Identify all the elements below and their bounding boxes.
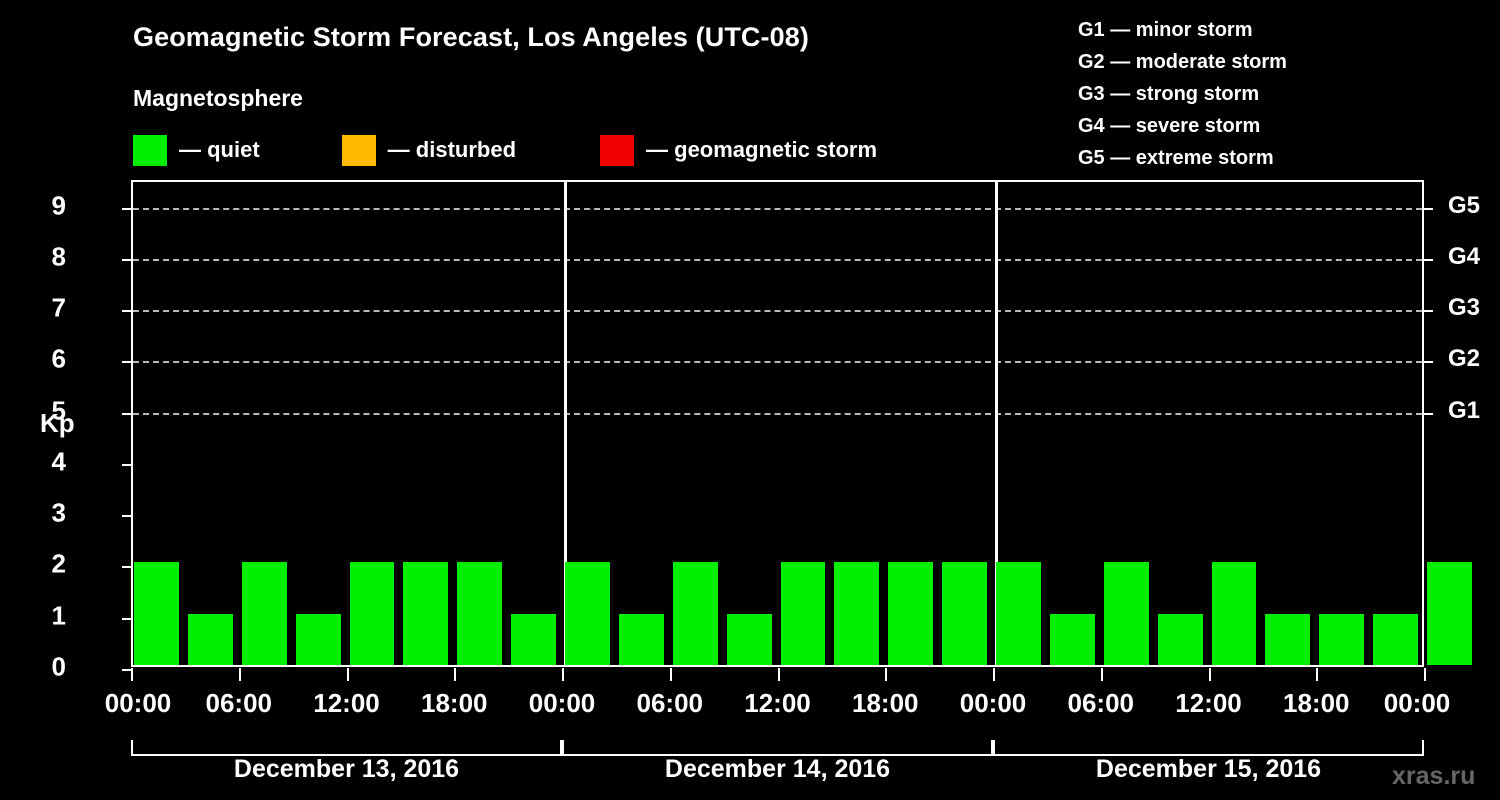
kp-bar [242,562,287,665]
gridline [133,361,1422,363]
right-axis-label: G5 [1448,192,1480,220]
day-range-bracket [131,740,562,756]
legend-item-label: — disturbed [388,137,516,163]
right-axis-label: G1 [1448,397,1480,425]
watermark: xras.ru [1392,762,1475,791]
y-axis-label: 1 [26,600,66,631]
chart-plot-area [131,180,1424,667]
x-axis-tick [131,668,133,681]
y-axis-label: 5 [26,395,66,426]
kp-bar [1050,614,1095,665]
x-axis-tick [562,668,564,681]
x-axis-label: 12:00 [313,688,380,719]
page-title: Geomagnetic Storm Forecast, Los Angeles … [133,22,809,53]
legend-item-label: — quiet [179,137,260,163]
x-axis-label: 06:00 [637,688,704,719]
y-axis-tick [122,361,133,363]
x-axis-tick [670,668,672,681]
x-axis-label: 18:00 [1283,688,1350,719]
kp-bar [673,562,718,665]
y-axis-tick [122,259,133,261]
y-axis-label: 7 [26,293,66,324]
x-axis-tick [778,668,780,681]
kp-bar [888,562,933,665]
x-axis-label: 06:00 [206,688,273,719]
x-axis-label: 00:00 [1384,688,1451,719]
x-axis-label: 18:00 [852,688,919,719]
legend-item-label: — geomagnetic storm [646,137,877,163]
kp-bar [1265,614,1310,665]
kp-bar [511,614,556,665]
kp-bar [1373,614,1418,665]
x-axis-tick [1424,668,1426,681]
y-axis-label: 8 [26,241,66,272]
day-label: December 13, 2016 [234,755,459,784]
right-axis-label: G2 [1448,345,1480,373]
day-label: December 14, 2016 [665,755,890,784]
x-axis-tick [885,668,887,681]
right-axis-tick [1422,208,1433,210]
right-axis-label: G4 [1448,243,1480,271]
x-axis-label: 12:00 [744,688,811,719]
kp-bar [188,614,233,665]
gridline [133,259,1422,261]
y-axis-tick [122,310,133,312]
y-axis-label: 6 [26,344,66,375]
kp-bar [996,562,1041,665]
kp-bar [1158,614,1203,665]
x-axis-tick [1316,668,1318,681]
x-axis-tick [1101,668,1103,681]
right-axis-tick [1422,413,1433,415]
kp-bar [781,562,826,665]
kp-bar [619,614,664,665]
right-axis-label: G3 [1448,294,1480,322]
x-axis-label: 12:00 [1175,688,1242,719]
day-range-bracket [993,740,1424,756]
green-square-icon [133,135,167,166]
kp-bar [1212,562,1257,665]
g-scale-line: G3 — strong storm [1078,78,1287,110]
kp-bar [942,562,987,665]
y-axis-tick [122,464,133,466]
g-scale-line: G4 — severe storm [1078,110,1287,142]
x-axis-label: 18:00 [421,688,488,719]
day-label: December 15, 2016 [1096,755,1321,784]
x-axis-label: 00:00 [105,688,172,719]
orange-square-icon [342,135,376,166]
y-axis-tick [122,566,133,568]
y-axis-tick [122,515,133,517]
y-axis-tick [122,618,133,620]
right-axis-tick [1422,361,1433,363]
kp-bar [727,614,772,665]
legend-item: — quiet [133,135,260,166]
kp-bar [403,562,448,665]
right-axis-tick [1422,310,1433,312]
gridline [133,310,1422,312]
gridline [133,413,1422,415]
kp-bar [296,614,341,665]
kp-bar [834,562,879,665]
x-axis-tick [239,668,241,681]
red-square-icon [600,135,634,166]
x-axis-tick [1209,668,1211,681]
g-scale-line: G2 — moderate storm [1078,46,1287,78]
x-axis-tick [347,668,349,681]
kp-bar [1319,614,1364,665]
kp-bar [350,562,395,665]
g-scale-line: G1 — minor storm [1078,14,1287,46]
day-range-bracket [562,740,993,756]
x-axis-tick [454,668,456,681]
g-scale-legend: G1 — minor stormG2 — moderate stormG3 — … [1078,14,1287,174]
kp-bar [457,562,502,665]
magnetosphere-label: Magnetosphere [133,85,303,112]
gridline [133,208,1422,210]
y-axis-label: 0 [26,652,66,683]
legend: — quiet— disturbed— geomagnetic storm [133,134,877,166]
y-axis-label: 9 [26,190,66,221]
kp-bar [565,562,610,665]
kp-bar [1104,562,1149,665]
y-axis-tick [122,413,133,415]
y-axis-tick [122,208,133,210]
right-axis-tick [1422,259,1433,261]
y-axis-label: 2 [26,549,66,580]
x-axis-label: 06:00 [1068,688,1135,719]
x-axis-label: 00:00 [529,688,596,719]
y-axis-label: 3 [26,498,66,529]
legend-item: — disturbed [342,135,516,166]
kp-bar [134,562,179,665]
y-axis-label: 4 [26,446,66,477]
g-scale-line: G5 — extreme storm [1078,142,1287,174]
x-axis-label: 00:00 [960,688,1027,719]
legend-item: — geomagnetic storm [600,135,877,166]
x-axis-tick [993,668,995,681]
kp-bar [1427,562,1472,665]
